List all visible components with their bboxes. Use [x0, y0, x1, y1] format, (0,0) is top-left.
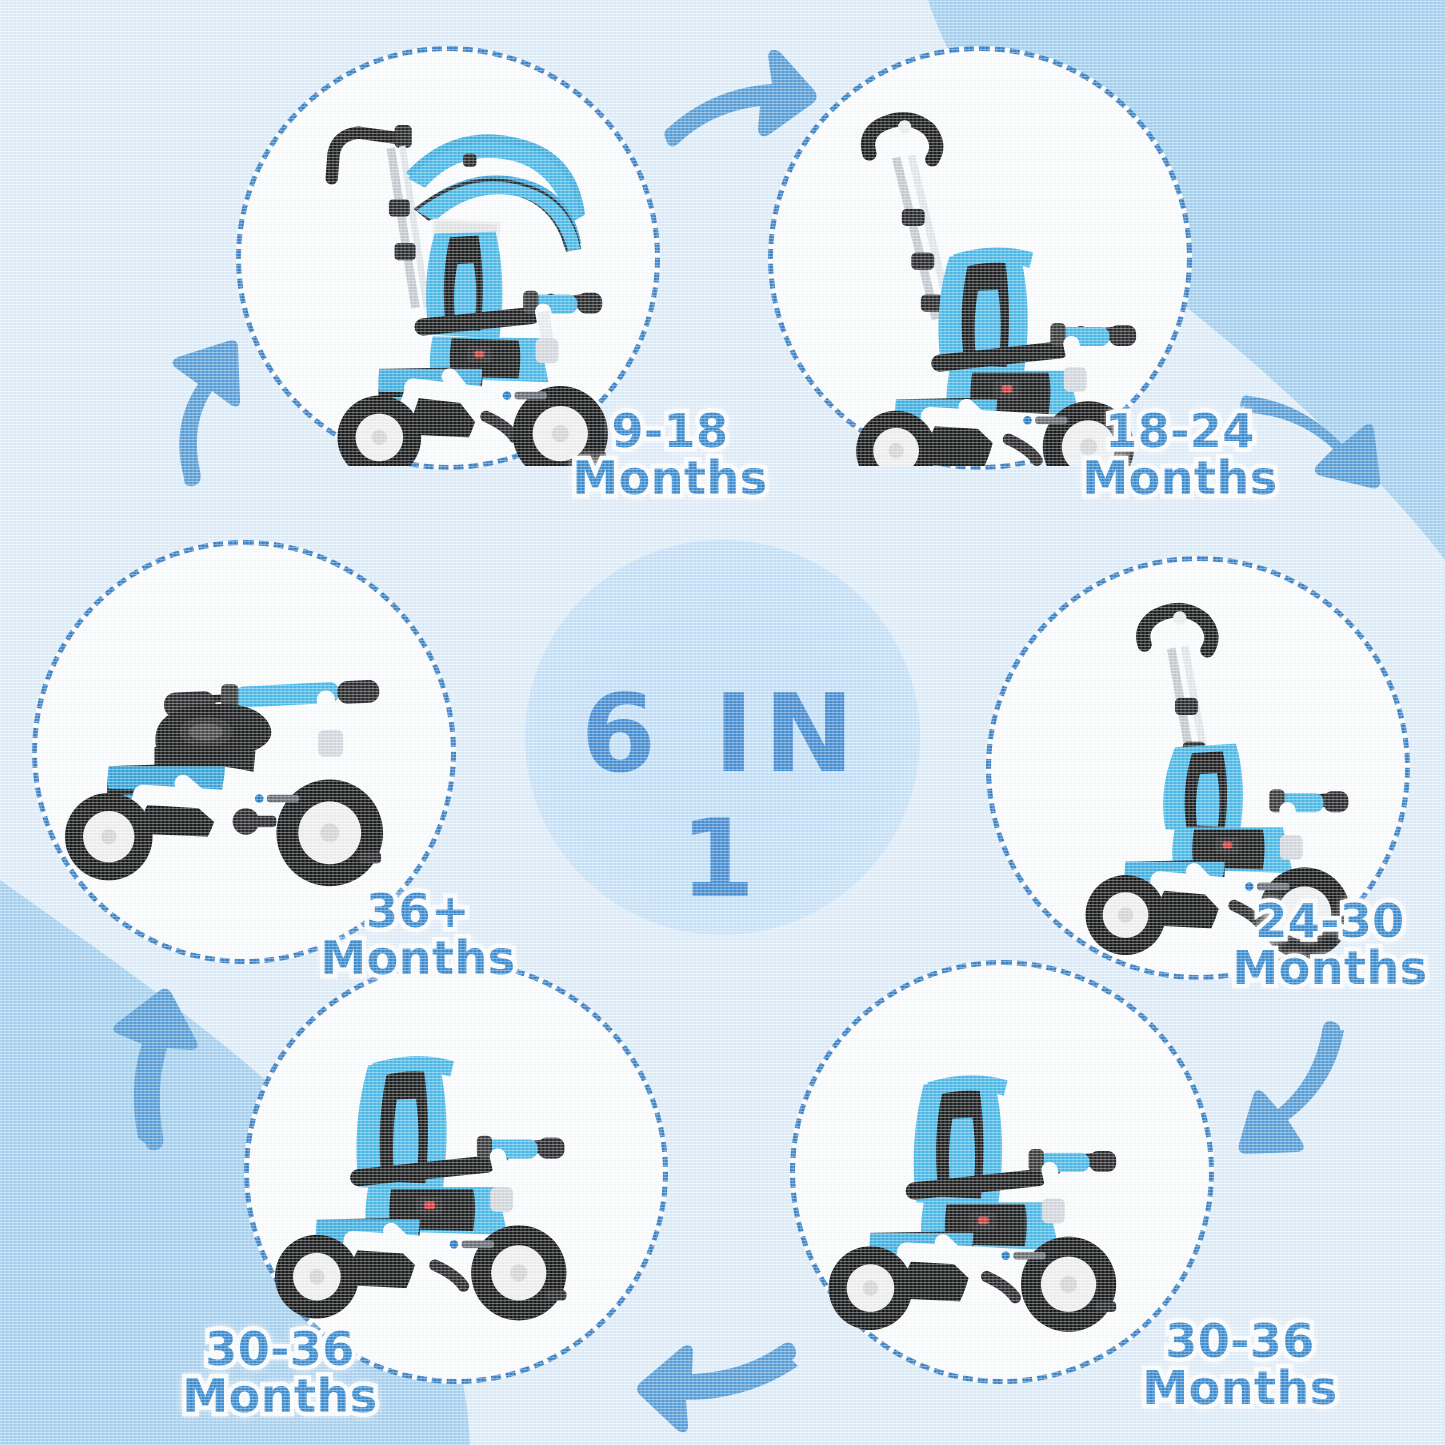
- brand-logo: [255, 794, 299, 803]
- brand-logo: [1023, 416, 1067, 425]
- age-label-24-30: 24-30 Months: [1215, 898, 1445, 992]
- product-illustration-30-36-a: [254, 970, 654, 1370]
- center-headline: 6 IN 1: [525, 672, 920, 922]
- age-label-18-24: 18-24 Months: [1065, 408, 1295, 502]
- brand-logo: [503, 391, 547, 400]
- brand-logo: [1001, 1251, 1045, 1260]
- brand-logo: [450, 1240, 494, 1249]
- product-illustration-30-36-b: [800, 970, 1200, 1370]
- brand-logo: [1245, 882, 1289, 891]
- infographic-canvas: 6 IN 1: [0, 0, 1445, 1445]
- age-label-30-36-a: 30-36 Months: [165, 1326, 395, 1420]
- age-label-30-36-b: 30-36 Months: [1125, 1318, 1355, 1412]
- age-label-9-18: 9-18 Months: [570, 408, 770, 502]
- product-illustration-9-18: [246, 66, 646, 466]
- age-label-36plus: 36+ Months: [318, 888, 518, 982]
